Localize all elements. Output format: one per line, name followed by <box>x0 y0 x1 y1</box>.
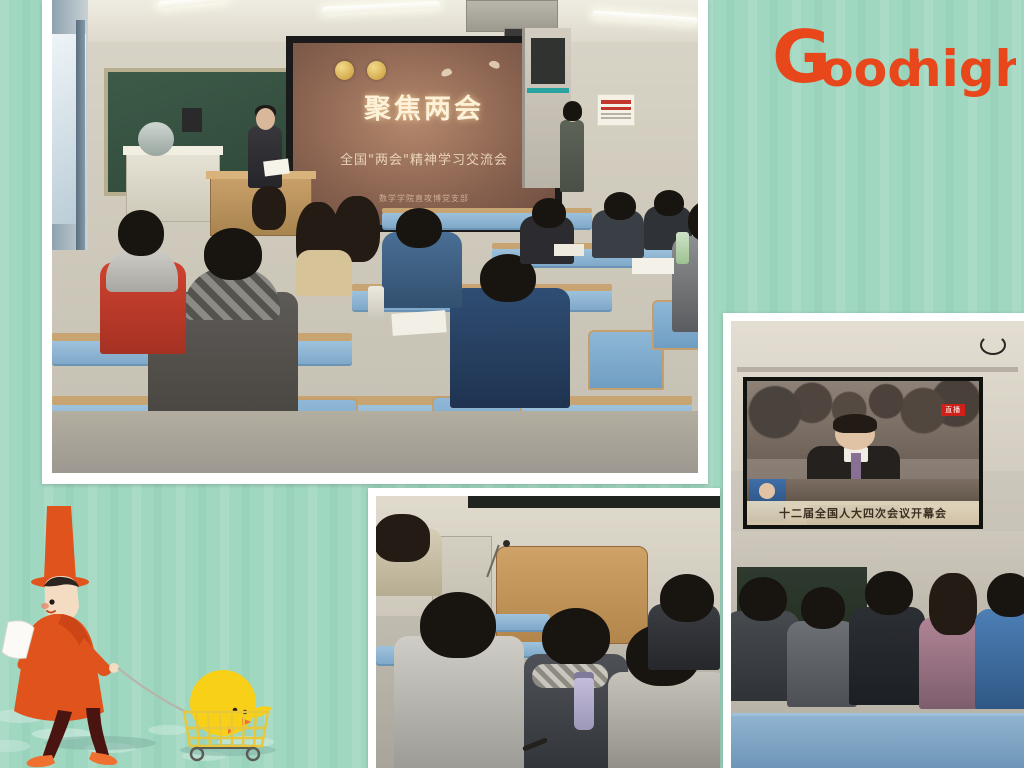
tall-orange-top-hat <box>44 506 76 580</box>
audience-light-hoodie <box>608 672 720 768</box>
floor <box>52 411 698 473</box>
thermos-flask <box>368 286 384 320</box>
audience-back-view-photo[interactable] <box>368 488 720 768</box>
student-head <box>604 192 636 220</box>
audience-member <box>849 607 925 705</box>
student-long-hair <box>252 186 286 230</box>
good-night-greeting: G ood night <box>768 16 1016 108</box>
standing-attendee-hair <box>563 101 582 121</box>
screen-rail <box>737 367 1018 372</box>
audience-scene <box>376 496 720 768</box>
cable-coil-icon <box>980 335 1006 355</box>
chalkboard-top <box>468 496 720 508</box>
purple-thermos-flask <box>574 678 594 730</box>
projection-screen-frame: 直播 十二届全国人大四次会议开幕会 <box>743 377 983 529</box>
projection-screen-broadcast-photo[interactable]: 直播 十二届全国人大四次会议开幕会 <box>723 313 1024 768</box>
presenter-head <box>256 108 275 130</box>
door-window <box>531 38 565 84</box>
audience-head <box>865 571 913 615</box>
greeting-word-two: night <box>906 40 1016 98</box>
wall-fan-icon <box>138 122 174 156</box>
man-pulling-cart-illustration <box>0 498 300 768</box>
audience-scarf <box>532 664 608 688</box>
student-navy-jacket <box>450 288 570 408</box>
broadcast-picture: 直播 十二届全国人大四次会议开幕会 <box>747 381 979 525</box>
dove-icon <box>488 59 501 70</box>
man-cheek <box>41 603 49 609</box>
presenter-paper <box>263 159 290 177</box>
collage-canvas: G ood night <box>0 0 1024 768</box>
news-anchor-head <box>759 483 775 499</box>
broadcast-ticker-text: 十二届全国人大四次会议开幕会 <box>779 505 947 521</box>
standing-attendee <box>560 120 584 192</box>
audience-head <box>660 574 714 622</box>
front-desk-row <box>731 716 1024 768</box>
cart-pull-string <box>118 668 186 712</box>
door-trim <box>527 88 569 93</box>
national-emblem-icon <box>367 61 386 80</box>
man-hand <box>109 663 119 673</box>
microphone-icon <box>503 540 510 547</box>
student-head <box>532 198 566 228</box>
broadcast-ticker: 十二届全国人大四次会议开幕会 <box>747 501 979 525</box>
audience-head <box>739 577 787 621</box>
slide-subtitle: 全国"两会"精神学习交流会 <box>293 149 555 168</box>
presenter-body <box>248 126 282 188</box>
audience-head <box>420 592 496 658</box>
paper-sheet <box>554 244 584 256</box>
paper-sheet <box>632 258 674 274</box>
broadcast-image: 直播 十二届全国人大四次会议开幕会 <box>731 321 1024 768</box>
audience-member <box>787 621 857 707</box>
classroom-lecture-image: 聚焦两会 全国"两会"精神学习交流会 数学学院直攻博党支部 <box>52 0 698 473</box>
audience-member-blue <box>975 609 1024 709</box>
wall-notice-poster <box>597 94 635 126</box>
projection-screen-frame: 聚焦两会 全国"两会"精神学习交流会 数学学院直攻博党支部 <box>286 36 562 232</box>
audience-long-hair <box>376 514 430 562</box>
student <box>296 250 352 296</box>
slide-title: 聚焦两会 <box>293 87 555 126</box>
audience-image <box>376 496 720 768</box>
classroom-scene: 聚焦两会 全国"两会"精神学习交流会 数学学院直攻博党支部 <box>52 0 698 473</box>
yellow-chick <box>190 670 256 736</box>
man-left-shoe <box>27 755 55 767</box>
wall-speaker-icon <box>182 108 202 132</box>
broadcast-room-scene: 直播 十二届全国人大四次会议开幕会 <box>731 321 1024 768</box>
man-right-shoe <box>89 752 117 765</box>
student-head <box>654 190 684 216</box>
classroom-lecture-photo[interactable]: 聚焦两会 全国"两会"精神学习交流会 数学学院直攻博党支部 <box>42 0 708 484</box>
slide-organization: 数学学院直攻博党支部 <box>293 193 555 204</box>
speaker-hair <box>833 414 877 433</box>
audience-long-hair <box>929 573 977 635</box>
water-bottle <box>676 232 689 264</box>
national-emblem-icon <box>335 61 354 80</box>
projection-screen: 聚焦两会 全国"两会"精神学习交流会 数学学院直攻博党支部 <box>293 43 555 225</box>
student-head <box>204 228 262 280</box>
student-head <box>396 208 442 248</box>
dove-icon <box>440 67 453 77</box>
audience-head <box>542 608 610 666</box>
audience-head <box>987 573 1024 617</box>
student-head <box>118 210 164 256</box>
audience-head <box>801 587 845 629</box>
window-frame <box>76 20 85 250</box>
live-badge: 直播 <box>941 404 965 416</box>
notebook <box>391 310 446 336</box>
man-eye <box>49 599 54 604</box>
